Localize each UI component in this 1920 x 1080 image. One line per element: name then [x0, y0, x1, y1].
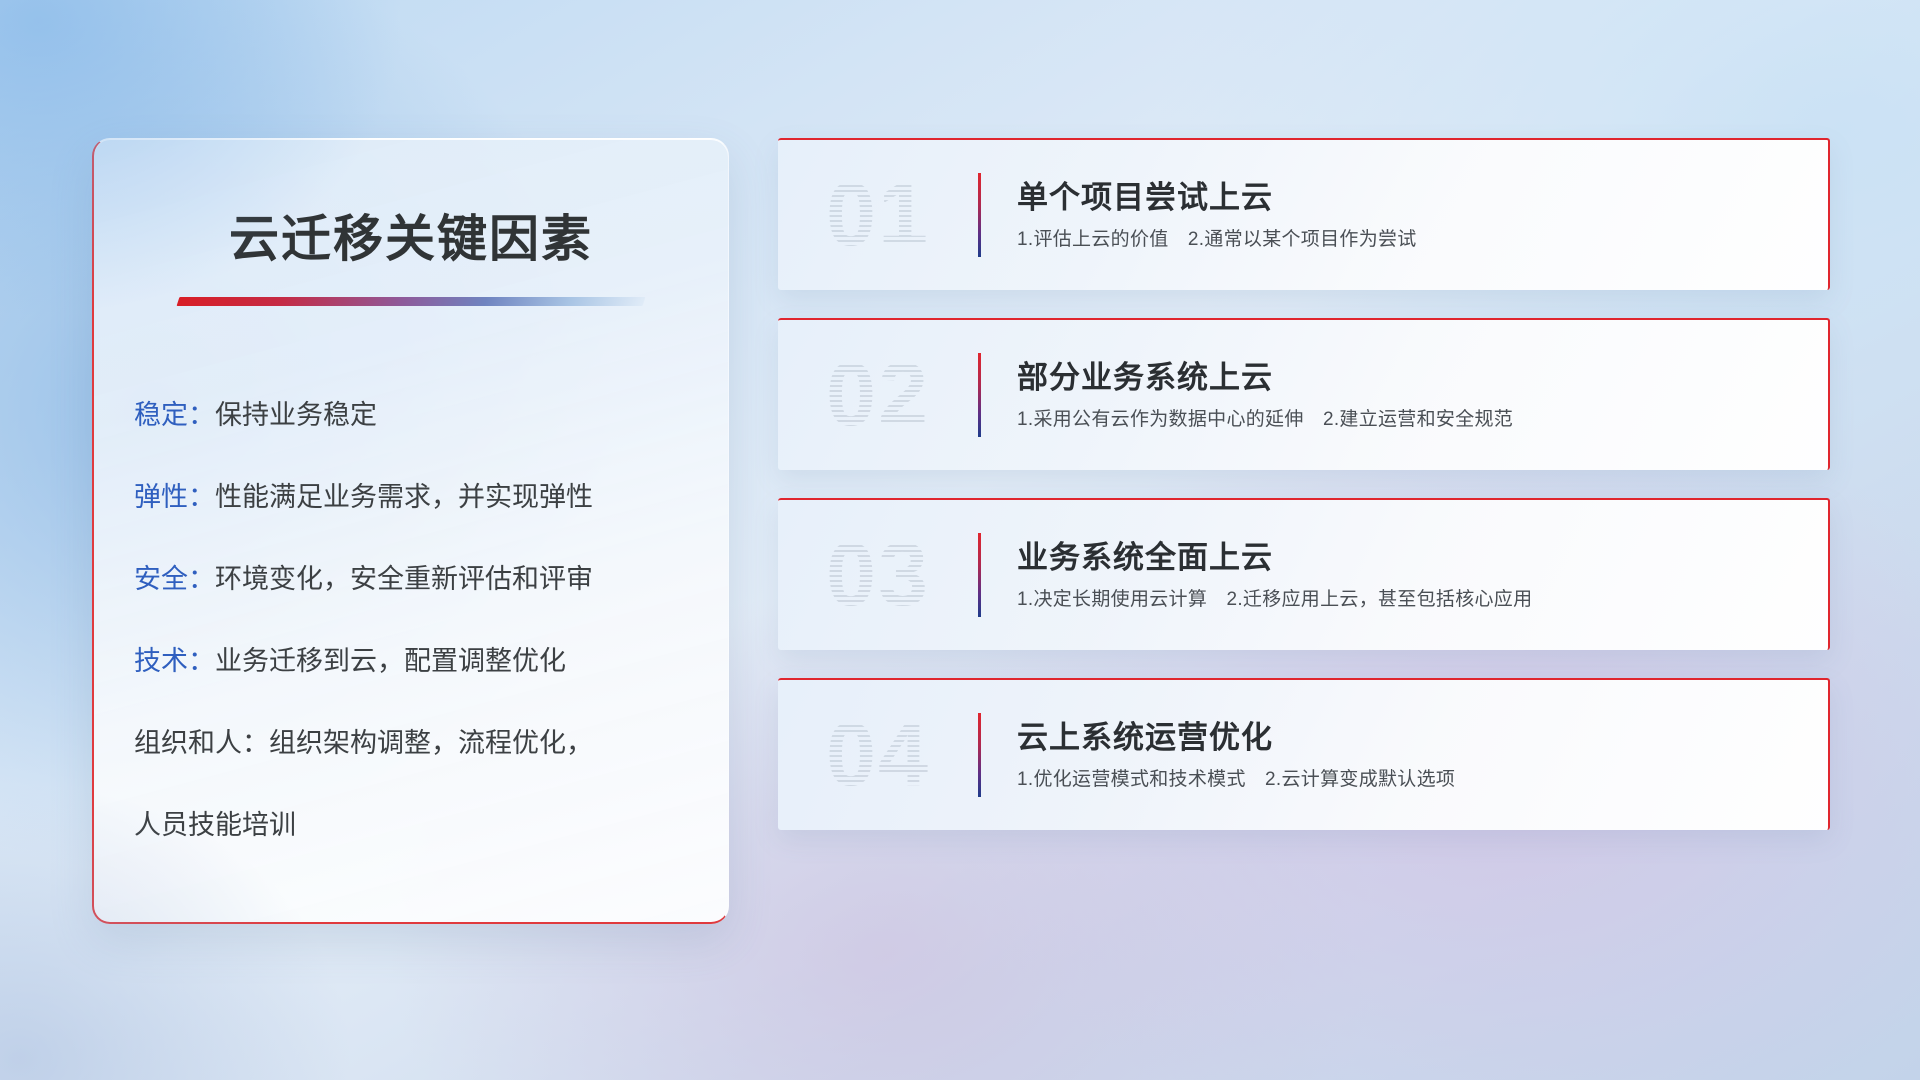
step-body: 业务系统全面上云1.决定长期使用云计算 2.迁移应用上云，甚至包括核心应用	[981, 539, 1828, 612]
step-number-text: 04	[826, 710, 930, 800]
step-card[interactable]: 03业务系统全面上云1.决定长期使用云计算 2.迁移应用上云，甚至包括核心应用	[778, 498, 1830, 650]
step-subtitle: 1.评估上云的价值 2.通常以某个项目作为尝试	[1017, 229, 1804, 252]
factor-label: 技术：	[134, 646, 215, 676]
step-body: 部分业务系统上云1.采用公有云作为数据中心的延伸 2.建立运营和安全规范	[981, 359, 1828, 432]
key-factors-list: 稳定：保持业务稳定弹性：性能满足业务需求，并实现弹性安全：环境变化，安全重新评估…	[94, 402, 728, 839]
step-subtitle: 1.优化运营模式和技术模式 2.云计算变成默认选项	[1017, 769, 1804, 792]
migration-steps-column: 01单个项目尝试上云1.评估上云的价值 2.通常以某个项目作为尝试02部分业务系…	[778, 138, 1830, 830]
factor-item: 稳定：保持业务稳定	[134, 402, 694, 429]
step-number-text: 03	[826, 530, 930, 620]
step-title: 云上系统运营优化	[1017, 719, 1804, 756]
step-card[interactable]: 01单个项目尝试上云1.评估上云的价值 2.通常以某个项目作为尝试	[778, 138, 1830, 290]
factor-item: 技术：业务迁移到云，配置调整优化	[134, 648, 694, 675]
step-number-text: 01	[826, 170, 930, 260]
title-underline-rule	[177, 297, 646, 306]
step-title: 部分业务系统上云	[1017, 359, 1804, 396]
factor-label: 组织和人：	[134, 728, 269, 758]
panel-title: 云迁移关键因素	[94, 199, 728, 271]
factor-value: 组织架构调整，流程优化，	[269, 728, 593, 758]
step-body: 单个项目尝试上云1.评估上云的价值 2.通常以某个项目作为尝试	[981, 179, 1828, 252]
factor-value: 性能满足业务需求，并实现弹性	[215, 482, 593, 512]
factor-item: 安全：环境变化，安全重新评估和评审	[134, 566, 694, 593]
step-number-watermark: 03	[778, 500, 978, 650]
factor-label: 稳定：	[134, 400, 215, 430]
step-subtitle: 1.采用公有云作为数据中心的延伸 2.建立运营和安全规范	[1017, 409, 1804, 432]
step-number-watermark: 04	[778, 680, 978, 830]
factor-value: 保持业务稳定	[215, 400, 377, 430]
step-card[interactable]: 04云上系统运营优化1.优化运营模式和技术模式 2.云计算变成默认选项	[778, 678, 1830, 830]
factor-label: 安全：	[134, 564, 215, 594]
step-title: 业务系统全面上云	[1017, 539, 1804, 576]
step-body: 云上系统运营优化1.优化运营模式和技术模式 2.云计算变成默认选项	[981, 719, 1828, 792]
step-number-text: 02	[826, 350, 930, 440]
slide-canvas: 云迁移关键因素 稳定：保持业务稳定弹性：性能满足业务需求，并实现弹性安全：环境变…	[0, 0, 1920, 1080]
factor-item: 组织和人：组织架构调整，流程优化，	[134, 730, 694, 757]
step-title: 单个项目尝试上云	[1017, 179, 1804, 216]
key-factors-panel: 云迁移关键因素 稳定：保持业务稳定弹性：性能满足业务需求，并实现弹性安全：环境变…	[92, 138, 729, 924]
factor-label: 弹性：	[134, 482, 215, 512]
step-subtitle: 1.决定长期使用云计算 2.迁移应用上云，甚至包括核心应用	[1017, 589, 1804, 612]
factor-value: 环境变化，安全重新评估和评审	[215, 564, 593, 594]
factor-item: 弹性：性能满足业务需求，并实现弹性	[134, 484, 694, 511]
step-number-watermark: 02	[778, 320, 978, 470]
factor-value: 业务迁移到云，配置调整优化	[215, 646, 566, 676]
step-card[interactable]: 02部分业务系统上云1.采用公有云作为数据中心的延伸 2.建立运营和安全规范	[778, 318, 1830, 470]
step-number-watermark: 01	[778, 140, 978, 290]
factor-value: 人员技能培训	[134, 810, 296, 840]
factor-item: 人员技能培训	[134, 812, 694, 839]
